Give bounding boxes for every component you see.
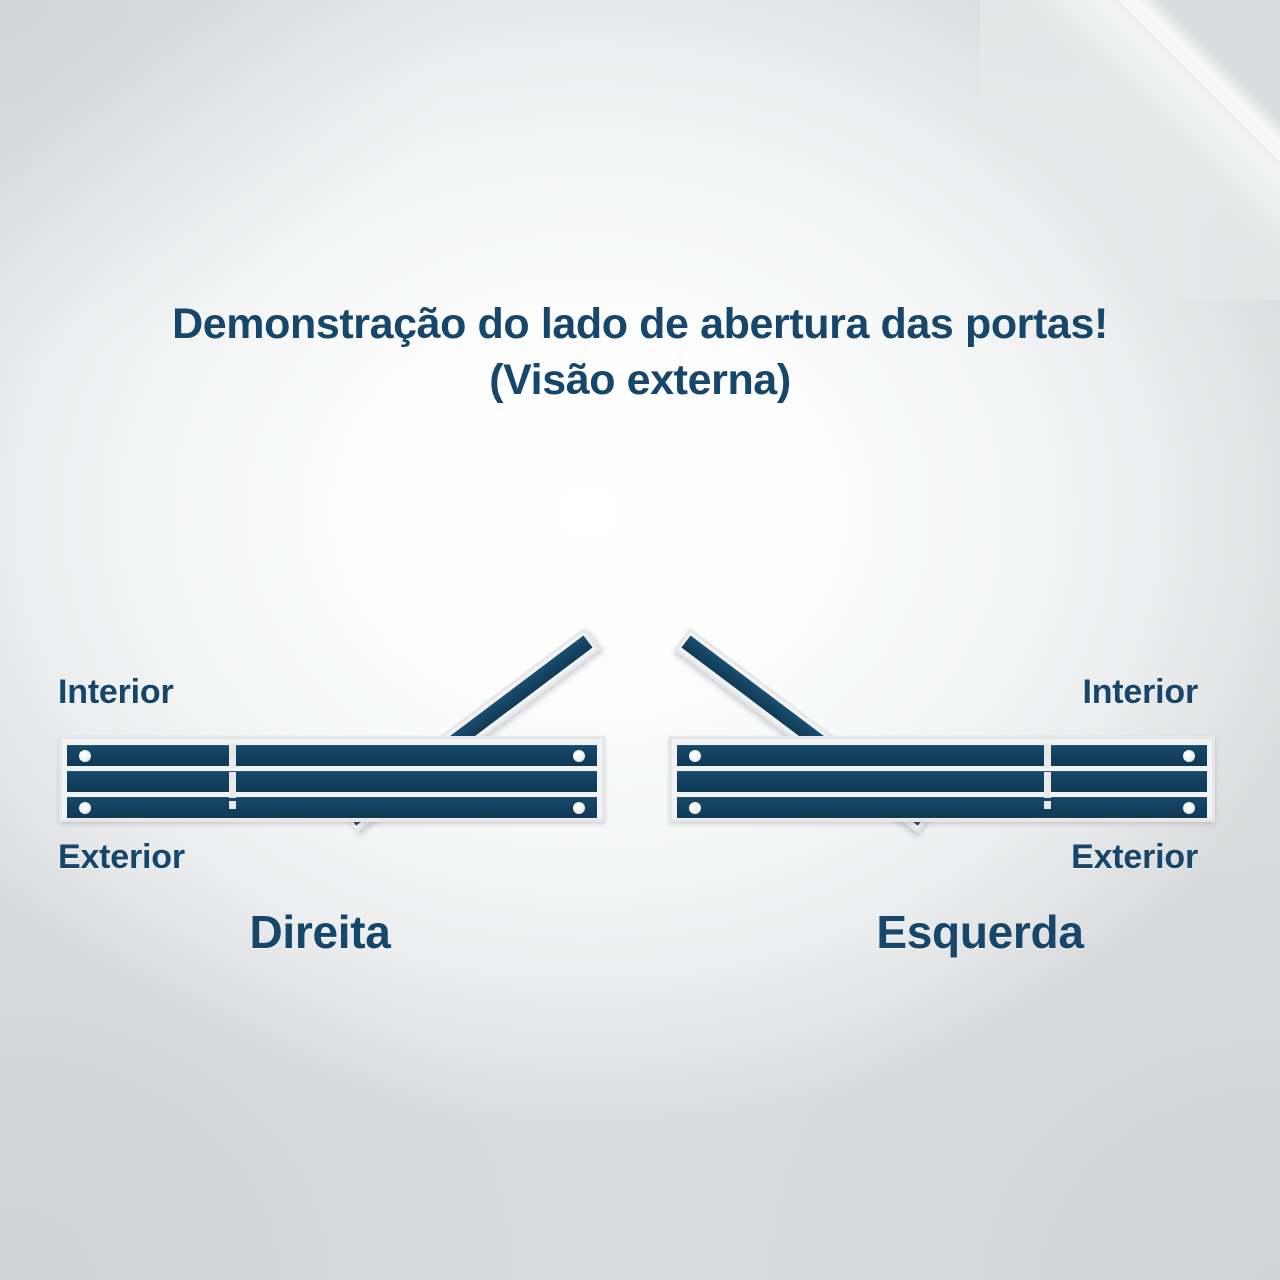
- wall-joint-notch-bottom: [229, 801, 236, 809]
- wall-joint-notch-middle: [1044, 772, 1051, 798]
- door-diagram-direita: Interior Exterior Direita: [0, 0, 640, 1280]
- hinge-dot-icon: [689, 802, 701, 814]
- hinge-dot-icon: [573, 750, 585, 762]
- wall-slat-middle: [677, 771, 1207, 792]
- hinge-dot-icon: [1183, 802, 1195, 814]
- hinge-dot-icon: [689, 750, 701, 762]
- wall-slat-top: [67, 745, 597, 766]
- door-diagram-esquerda: Interior Exterior Esquerda: [640, 0, 1280, 1280]
- label-interior-direita: Interior: [58, 673, 174, 712]
- poster-canvas: Demonstração do lado de abertura das por…: [0, 0, 1280, 1280]
- wall-joint-notch-top: [1044, 743, 1051, 768]
- caption-esquerda: Esquerda: [660, 905, 1280, 959]
- wall-slat-middle: [67, 771, 597, 792]
- label-interior-esquerda: Interior: [1082, 673, 1198, 712]
- hinge-dot-icon: [79, 802, 91, 814]
- wall-frame-esquerda: [669, 736, 1215, 822]
- caption-direita: Direita: [0, 905, 640, 959]
- wall-frame-direita: [59, 736, 605, 822]
- wall-joint-notch-bottom: [1044, 801, 1051, 809]
- wall-joint-notch-top: [229, 743, 236, 768]
- wall-slat-bottom: [67, 797, 597, 818]
- hinge-dot-icon: [79, 750, 91, 762]
- hinge-dot-icon: [573, 802, 585, 814]
- wall-slat-bottom: [677, 797, 1207, 818]
- wall-slat-top: [677, 745, 1207, 766]
- label-exterior-esquerda: Exterior: [1071, 838, 1198, 877]
- hinge-dot-icon: [1183, 750, 1195, 762]
- wall-joint-notch-middle: [229, 772, 236, 798]
- label-exterior-direita: Exterior: [58, 838, 185, 877]
